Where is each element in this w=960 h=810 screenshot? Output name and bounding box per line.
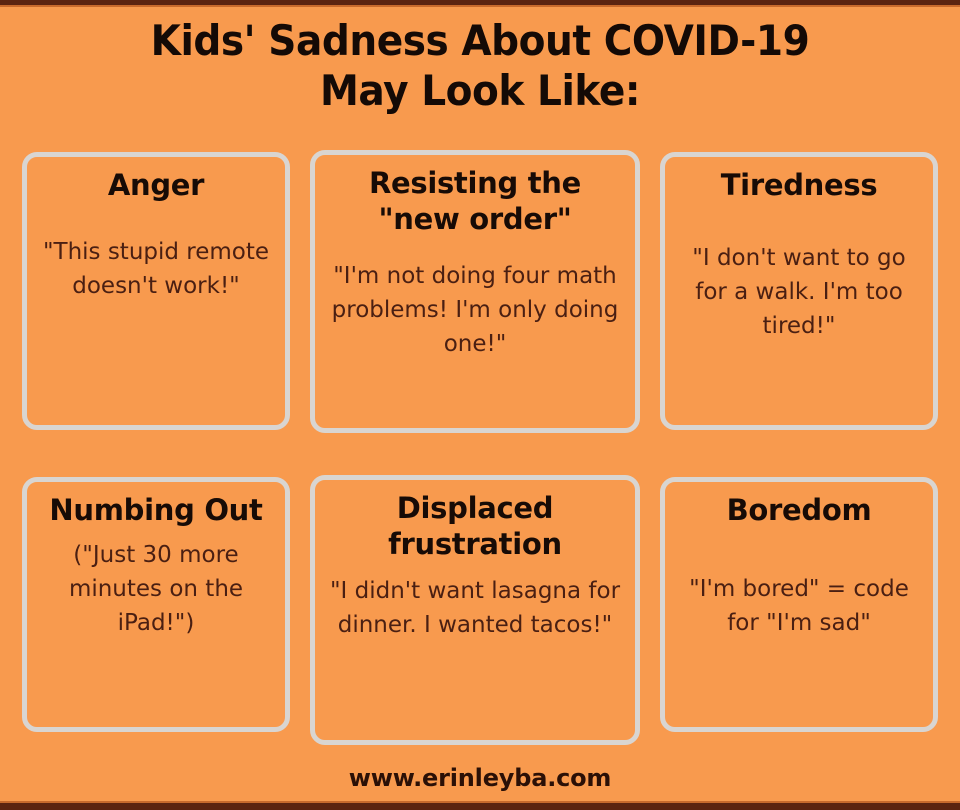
bottom-border-strip (0, 803, 960, 810)
card-anger: Anger "This stupid remote doesn't work!" (22, 152, 290, 430)
card-body: "I'm not doing four math problems! I'm o… (325, 259, 625, 361)
card-heading: Displaced frustration (325, 490, 625, 562)
card-heading: Anger (108, 167, 204, 203)
card-boredom: Boredom "I'm bored" = code for "I'm sad" (660, 477, 938, 732)
top-border-accent (0, 5, 960, 7)
card-resisting-the-new-order: Resisting the "new order" "I'm not doing… (310, 150, 640, 433)
card-body: "I don't want to go for a walk. I'm too … (675, 241, 923, 343)
card-heading: Numbing Out (49, 492, 262, 528)
footer-website: www.erinleyba.com (0, 764, 960, 792)
card-grid: Anger "This stupid remote doesn't work!"… (0, 150, 960, 750)
card-heading: Tiredness (721, 167, 878, 203)
card-body: "I'm bored" = code for "I'm sad" (675, 572, 923, 640)
card-body: "This stupid remote doesn't work!" (37, 235, 275, 303)
card-heading: Boredom (727, 492, 872, 528)
title-line-1: Kids' Sadness About COVID-19 (34, 16, 927, 66)
card-tiredness: Tiredness "I don't want to go for a walk… (660, 152, 938, 430)
page-title: Kids' Sadness About COVID-19 May Look Li… (0, 16, 960, 116)
card-body: ("Just 30 more minutes on the iPad!") (37, 538, 275, 640)
title-line-2: May Look Like: (34, 66, 927, 116)
card-body: "I didn't want lasagna for dinner. I wan… (325, 574, 625, 642)
card-heading: Resisting the "new order" (325, 165, 625, 237)
card-numbing-out: Numbing Out ("Just 30 more minutes on th… (22, 477, 290, 732)
card-displaced-frustration: Displaced frustration "I didn't want las… (310, 475, 640, 745)
